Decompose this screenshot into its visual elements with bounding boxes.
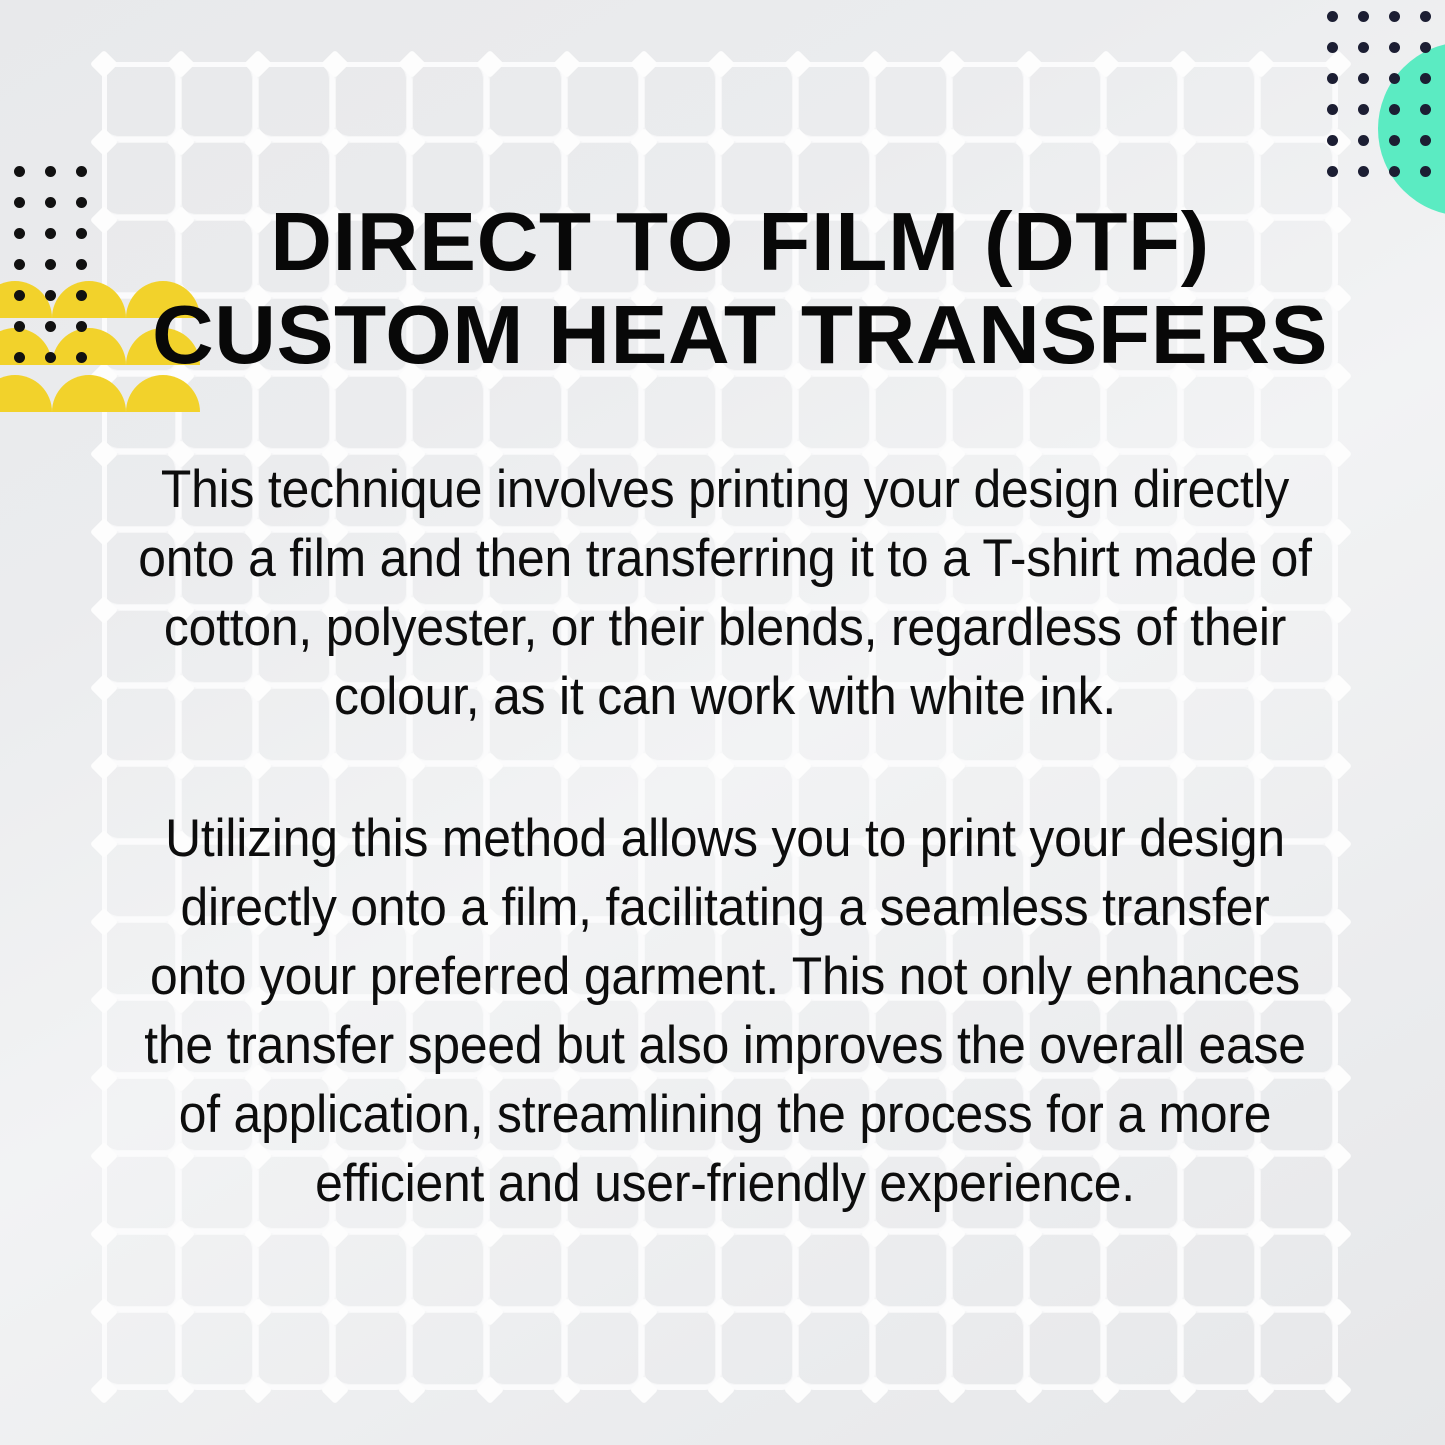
grid-intersection-diamond: [784, 1220, 812, 1248]
grid-cell: [875, 1234, 952, 1312]
grid-cell: [567, 376, 644, 454]
pattern-dot: [45, 352, 56, 363]
semicircle-shape: [52, 328, 126, 365]
grid-intersection-diamond: [1015, 128, 1043, 156]
pattern-dot: [76, 259, 87, 270]
grid-cell: [335, 376, 412, 454]
grid-cell: [489, 1234, 566, 1312]
grid-cell: [875, 64, 952, 142]
grid-intersection-diamond: [1092, 1298, 1120, 1326]
grid-intersection-diamond: [1169, 50, 1197, 78]
grid-intersection-diamond: [784, 50, 812, 78]
mint-circle-decoration: [1378, 42, 1445, 216]
grid-cell: [1183, 1234, 1260, 1312]
grid-intersection-diamond: [1092, 50, 1120, 78]
pattern-dot: [1420, 73, 1431, 84]
page-title: DIRECT TO FILM (DTF) CUSTOM HEAT TRANSFE…: [132, 195, 1347, 381]
grid-intersection-diamond: [938, 50, 966, 78]
semicircle-shape: [0, 281, 52, 318]
grid-intersection-diamond: [167, 1376, 195, 1404]
grid-intersection-diamond: [1015, 1376, 1043, 1404]
grid-cell: [875, 376, 952, 454]
pattern-dot: [1327, 104, 1338, 115]
grid-cell: [644, 1312, 721, 1390]
grid-cell: [798, 1234, 875, 1312]
grid-intersection-diamond: [784, 1376, 812, 1404]
grid-intersection-diamond: [552, 128, 580, 156]
grid-intersection-diamond: [321, 1220, 349, 1248]
grid-cell: [1183, 1312, 1260, 1390]
grid-intersection-diamond: [90, 50, 118, 78]
grid-intersection-diamond: [1092, 1376, 1120, 1404]
grid-cell: [1029, 1234, 1106, 1312]
grid-cell: [644, 1234, 721, 1312]
pattern-dot: [1420, 135, 1431, 146]
grid-intersection-diamond: [475, 1298, 503, 1326]
pattern-dot: [45, 166, 56, 177]
pattern-dot: [1420, 11, 1431, 22]
grid-cell: [258, 376, 335, 454]
grid-cell: [258, 1312, 335, 1390]
grid-cell: [1029, 64, 1106, 142]
pattern-dot: [1420, 104, 1431, 115]
grid-intersection-diamond: [784, 128, 812, 156]
grid-intersection-diamond: [552, 1298, 580, 1326]
grid-cell: [567, 1312, 644, 1390]
grid-cell: [1106, 376, 1183, 454]
pattern-dot: [76, 352, 87, 363]
grid-intersection-diamond: [1323, 1376, 1351, 1404]
grid-intersection-diamond: [861, 1376, 889, 1404]
body-copy: This technique involves printing your de…: [96, 455, 1354, 1218]
grid-intersection-diamond: [244, 1376, 272, 1404]
pattern-dot: [45, 259, 56, 270]
grid-intersection-diamond: [1169, 1376, 1197, 1404]
grid-cell: [798, 1312, 875, 1390]
grid-cell: [1260, 1312, 1337, 1390]
grid-cell: [104, 1312, 181, 1390]
pattern-dot: [1358, 166, 1369, 177]
grid-intersection-diamond: [321, 1376, 349, 1404]
grid-intersection-diamond: [630, 1220, 658, 1248]
pattern-dot: [1358, 11, 1369, 22]
grid-intersection-diamond: [398, 128, 426, 156]
pattern-dot: [14, 352, 25, 363]
pattern-dot: [1327, 166, 1338, 177]
pattern-dot: [14, 228, 25, 239]
pattern-dot: [76, 321, 87, 332]
grid-cell: [875, 1312, 952, 1390]
grid-cell: [952, 64, 1029, 142]
pattern-dot: [1389, 11, 1400, 22]
grid-intersection-diamond: [1169, 1298, 1197, 1326]
grid-cell: [1106, 64, 1183, 142]
grid-intersection-diamond: [475, 50, 503, 78]
grid-cell: [644, 64, 721, 142]
grid-intersection-diamond: [167, 128, 195, 156]
grid-intersection-diamond: [1246, 1298, 1274, 1326]
grid-intersection-diamond: [398, 1220, 426, 1248]
grid-cell: [104, 64, 181, 142]
grid-cell: [1260, 376, 1337, 454]
grid-cell: [721, 1234, 798, 1312]
grid-intersection-diamond: [244, 1298, 272, 1326]
grid-intersection-diamond: [1246, 1220, 1274, 1248]
background-grid-top-edge: [104, 62, 1338, 67]
pattern-dot: [1389, 73, 1400, 84]
pattern-dot: [76, 228, 87, 239]
grid-cell: [258, 1234, 335, 1312]
grid-intersection-diamond: [861, 50, 889, 78]
grid-cell: [489, 1312, 566, 1390]
grid-cell: [258, 64, 335, 142]
grid-intersection-diamond: [244, 50, 272, 78]
grid-intersection-diamond: [1246, 128, 1274, 156]
grid-cell: [952, 376, 1029, 454]
pattern-dot: [14, 290, 25, 301]
grid-intersection-diamond: [1246, 1376, 1274, 1404]
grid-intersection-diamond: [707, 1220, 735, 1248]
semicircle-shape: [52, 281, 126, 318]
grid-cell: [798, 376, 875, 454]
pattern-dot: [45, 228, 56, 239]
semicircle-shape: [0, 375, 52, 412]
pattern-dot: [1327, 135, 1338, 146]
grid-intersection-diamond: [398, 1376, 426, 1404]
grid-cell: [412, 64, 489, 142]
grid-cell: [952, 1234, 1029, 1312]
grid-cell: [335, 64, 412, 142]
grid-intersection-diamond: [707, 128, 735, 156]
pattern-dot: [1358, 104, 1369, 115]
grid-cell: [489, 64, 566, 142]
grid-intersection-diamond: [1015, 1220, 1043, 1248]
pattern-dot: [1358, 135, 1369, 146]
grid-intersection-diamond: [475, 1220, 503, 1248]
grid-cell: [567, 1234, 644, 1312]
grid-intersection-diamond: [630, 50, 658, 78]
grid-intersection-diamond: [321, 128, 349, 156]
pattern-dot: [1327, 11, 1338, 22]
pattern-dot: [1420, 166, 1431, 177]
grid-cell: [335, 1234, 412, 1312]
grid-cell: [567, 64, 644, 142]
grid-intersection-diamond: [90, 128, 118, 156]
grid-cell: [181, 376, 258, 454]
pattern-dot: [45, 290, 56, 301]
grid-intersection-diamond: [707, 1298, 735, 1326]
grid-intersection-diamond: [475, 128, 503, 156]
grid-intersection-diamond: [707, 50, 735, 78]
pattern-dot: [1420, 42, 1431, 53]
pattern-dot: [1358, 73, 1369, 84]
grid-cell: [952, 1312, 1029, 1390]
grid-cell: [181, 1234, 258, 1312]
body-paragraph-1: This technique involves printing your de…: [134, 455, 1317, 731]
grid-intersection-diamond: [1169, 128, 1197, 156]
grid-cell: [104, 1234, 181, 1312]
pattern-dot: [76, 290, 87, 301]
grid-intersection-diamond: [321, 1298, 349, 1326]
body-paragraph-2: Utilizing this method allows you to prin…: [134, 804, 1317, 1218]
grid-cell: [798, 64, 875, 142]
grid-cell: [1106, 1312, 1183, 1390]
grid-intersection-diamond: [398, 1298, 426, 1326]
grid-intersection-diamond: [321, 50, 349, 78]
grid-cell: [181, 64, 258, 142]
pattern-dot: [1358, 42, 1369, 53]
grid-intersection-diamond: [167, 1298, 195, 1326]
grid-intersection-diamond: [1015, 50, 1043, 78]
grid-cell: [721, 64, 798, 142]
grid-intersection-diamond: [1015, 1298, 1043, 1326]
grid-cell: [489, 376, 566, 454]
pattern-dot: [45, 197, 56, 208]
grid-intersection-diamond: [861, 1220, 889, 1248]
grid-cell: [1260, 64, 1337, 142]
grid-intersection-diamond: [1323, 1298, 1351, 1326]
grid-cell: [1029, 1312, 1106, 1390]
grid-cell: [412, 376, 489, 454]
grid-cell: [721, 376, 798, 454]
grid-intersection-diamond: [167, 50, 195, 78]
pattern-dot: [1389, 166, 1400, 177]
pattern-dot: [14, 166, 25, 177]
grid-intersection-diamond: [1169, 1220, 1197, 1248]
grid-intersection-diamond: [90, 206, 118, 234]
grid-intersection-diamond: [90, 1298, 118, 1326]
grid-intersection-diamond: [707, 1376, 735, 1404]
grid-intersection-diamond: [552, 1376, 580, 1404]
grid-intersection-diamond: [861, 1298, 889, 1326]
grid-intersection-diamond: [90, 1220, 118, 1248]
grid-intersection-diamond: [552, 1220, 580, 1248]
grid-intersection-diamond: [630, 1298, 658, 1326]
pattern-dot: [1389, 42, 1400, 53]
grid-cell: [1029, 376, 1106, 454]
grid-cell: [1260, 1234, 1337, 1312]
grid-intersection-diamond: [938, 1298, 966, 1326]
grid-intersection-diamond: [938, 1220, 966, 1248]
grid-intersection-diamond: [1323, 1220, 1351, 1248]
pattern-dot: [76, 166, 87, 177]
grid-cell: [181, 1312, 258, 1390]
grid-cell: [1183, 376, 1260, 454]
grid-cell: [412, 1312, 489, 1390]
pattern-dot: [45, 321, 56, 332]
grid-intersection-diamond: [630, 128, 658, 156]
pattern-dot: [14, 197, 25, 208]
grid-intersection-diamond: [1092, 128, 1120, 156]
grid-intersection-diamond: [167, 1220, 195, 1248]
grid-cell: [644, 376, 721, 454]
pattern-dot: [1389, 135, 1400, 146]
grid-intersection-diamond: [244, 128, 272, 156]
pattern-dot: [14, 321, 25, 332]
grid-intersection-diamond: [784, 1298, 812, 1326]
grid-intersection-diamond: [475, 1376, 503, 1404]
pattern-dot: [1389, 104, 1400, 115]
grid-cell: [1106, 1234, 1183, 1312]
grid-intersection-diamond: [90, 1376, 118, 1404]
grid-cell: [412, 1234, 489, 1312]
grid-intersection-diamond: [938, 128, 966, 156]
grid-intersection-diamond: [1246, 50, 1274, 78]
semicircle-shape: [0, 328, 52, 365]
semicircle-shape: [52, 375, 126, 412]
grid-cell: [721, 1312, 798, 1390]
grid-intersection-diamond: [244, 1220, 272, 1248]
pattern-dot: [1327, 73, 1338, 84]
pattern-dot: [76, 197, 87, 208]
pattern-dot: [14, 259, 25, 270]
grid-intersection-diamond: [861, 128, 889, 156]
grid-intersection-diamond: [398, 50, 426, 78]
poster-canvas: DIRECT TO FILM (DTF) CUSTOM HEAT TRANSFE…: [0, 0, 1445, 1445]
grid-intersection-diamond: [1092, 1220, 1120, 1248]
grid-cell: [1183, 64, 1260, 142]
grid-intersection-diamond: [552, 50, 580, 78]
pattern-dot: [1327, 42, 1338, 53]
grid-cell: [335, 1312, 412, 1390]
grid-intersection-diamond: [938, 1376, 966, 1404]
grid-intersection-diamond: [630, 1376, 658, 1404]
